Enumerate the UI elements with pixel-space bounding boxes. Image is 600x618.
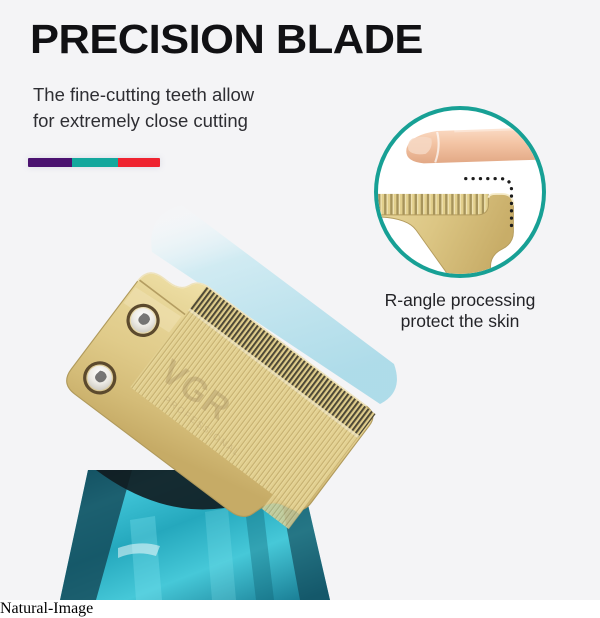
callout-caption: R-angle processing protect the skin xyxy=(349,290,571,332)
brand-mark-vgr: VGR PROFESSIONAL xyxy=(147,351,267,458)
svg-text:PROFESSIONAL: PROFESSIONAL xyxy=(162,394,243,459)
subtitle-line-2: for extremely close cutting xyxy=(33,108,333,134)
subtitle-line-1: The fine-cutting teeth allow xyxy=(33,82,333,108)
callout-caption-line-2: protect the skin xyxy=(349,311,571,332)
product-feature-poster: PRECISION BLADE The fine-cutting teeth a… xyxy=(0,0,600,600)
accent-divider-bar xyxy=(28,158,160,167)
gold-t-blade: VGR PROFESSIONAL xyxy=(61,251,378,547)
callout-caption-line-1: R-angle processing xyxy=(349,290,571,311)
subtitle-text: The fine-cutting teeth allow for extreme… xyxy=(33,82,333,134)
accent-segment-purple xyxy=(28,158,72,167)
accent-segment-teal xyxy=(72,158,118,167)
svg-text:VGR: VGR xyxy=(153,353,237,429)
blade-screw-top xyxy=(120,297,166,343)
callout-ring xyxy=(374,106,546,278)
finger-illustration xyxy=(406,127,542,163)
inset-blade xyxy=(378,194,513,274)
page-title: PRECISION BLADE xyxy=(30,17,518,61)
callout-illustration xyxy=(378,110,542,274)
blade-screw-bottom xyxy=(77,355,123,401)
accent-segment-red xyxy=(118,158,160,167)
r-angle-callout-circle xyxy=(374,106,546,278)
trimmer-body xyxy=(60,470,330,600)
